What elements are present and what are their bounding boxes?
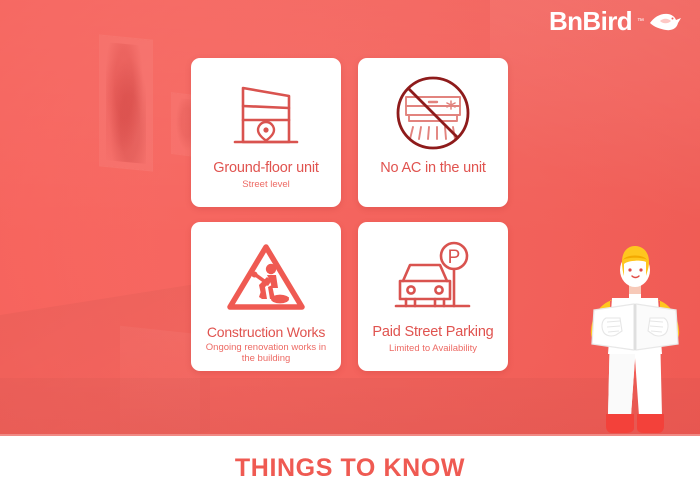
trademark-symbol: ™: [637, 18, 644, 25]
card-text-block: No AC in the unit: [365, 160, 501, 179]
no-air-conditioner-icon: [365, 68, 501, 160]
building-location-pin-icon: [198, 68, 334, 160]
card-ground-floor-unit[interactable]: Ground-floor unit Street level: [191, 58, 341, 207]
card-text-block: Paid Street Parking Limited to Availabil…: [365, 324, 501, 354]
card-title: Construction Works: [198, 324, 334, 340]
slide-canvas: BnBird ™: [0, 0, 700, 500]
car-parking-sign-icon: P: [365, 232, 501, 324]
card-title: Paid Street Parking: [365, 324, 501, 341]
banner-title: THINGS TO KNOW: [235, 454, 465, 483]
card-paid-street-parking[interactable]: P Paid Street Parking Limited to Availab…: [358, 222, 508, 371]
brand-name: BnBird: [549, 8, 632, 34]
card-construction-works[interactable]: Construction Works Ongoing renovation wo…: [191, 222, 341, 371]
card-no-ac[interactable]: No AC in the unit: [358, 58, 508, 207]
card-subtitle: Street level: [198, 179, 334, 190]
card-text-block: Ground-floor unit Street level: [198, 160, 334, 190]
svg-text:P: P: [448, 247, 461, 268]
card-subtitle: Ongoing renovation works in the building: [198, 342, 334, 364]
card-title: Ground-floor unit: [198, 160, 334, 177]
person-reading-book-illustration: [576, 238, 694, 438]
card-subtitle: Limited to Availability: [365, 343, 501, 354]
info-card-grid: Ground-floor unit Street level: [191, 58, 508, 371]
construction-warning-triangle-icon: [198, 232, 334, 324]
card-title: No AC in the unit: [365, 160, 501, 177]
bird-icon: [648, 9, 682, 33]
card-text-block: Construction Works Ongoing renovation wo…: [198, 324, 334, 365]
bottom-banner: THINGS TO KNOW: [0, 434, 700, 500]
brand-logo[interactable]: BnBird ™: [549, 8, 682, 34]
